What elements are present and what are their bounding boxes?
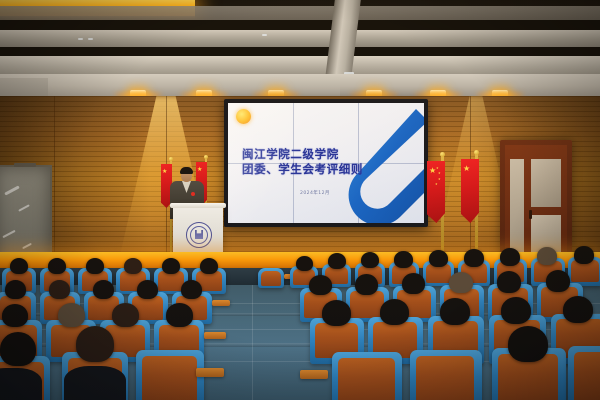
floor-joint — [252, 285, 253, 400]
auditorium-seat[interactable] — [136, 350, 204, 400]
auditorium-photo: 闽江学院二级学院 团委、学生会考评细则 2024年12月 ★ ★ ★ ★ ★ ★… — [0, 0, 600, 400]
audience-head — [497, 271, 521, 293]
audience-head — [328, 253, 346, 269]
screen-glare — [228, 103, 424, 223]
presenter-hair — [180, 167, 193, 174]
ceiling-beam-1 — [0, 6, 600, 20]
audience-head — [464, 249, 484, 267]
whiteboard-glare — [18, 204, 30, 211]
seat-writing-desk[interactable] — [196, 368, 224, 377]
flag-pole-finial — [204, 155, 208, 159]
audience-head — [537, 247, 557, 265]
audience-head — [137, 280, 158, 299]
audience-head — [563, 296, 593, 323]
audience-head — [112, 303, 139, 327]
whiteboard-glare — [22, 243, 32, 249]
chinese-flag: ★ ★ ★ ★ ★ — [427, 161, 445, 223]
audience-head — [361, 252, 379, 268]
flag-pole-finial — [169, 157, 173, 161]
flag-star-icon: ★ — [162, 168, 167, 176]
audience-head — [574, 246, 594, 264]
audience-head — [440, 298, 470, 325]
lectern-top — [170, 203, 226, 208]
audience-head — [309, 275, 332, 295]
audience-head — [322, 300, 351, 326]
audience-head — [380, 299, 409, 325]
audience-head — [355, 274, 378, 295]
audience-head — [181, 280, 202, 299]
door-glass-panel — [531, 159, 561, 207]
audience-head — [546, 270, 570, 292]
audience-head — [93, 280, 114, 299]
university-seal-icon — [186, 222, 212, 248]
ceiling-reflection-dot — [262, 34, 267, 36]
chinese-flag: ★ — [461, 159, 479, 223]
audience-head — [10, 258, 28, 274]
seal-monogram — [195, 230, 203, 239]
ceiling-reflection-dot — [88, 38, 93, 40]
ceiling-reflection-dot — [78, 38, 83, 40]
flag-star-icon: ★ — [463, 165, 470, 173]
seat-cushion — [261, 271, 281, 286]
audience-head — [394, 251, 413, 268]
auditorium-seat[interactable] — [258, 268, 284, 288]
auditorium-seat[interactable] — [332, 352, 402, 400]
whiteboard-tray — [14, 163, 36, 167]
led-video-wall[interactable]: 闽江学院二级学院 团委、学生会考评细则 2024年12月 — [228, 103, 424, 223]
seat-writing-desk[interactable] — [204, 332, 226, 339]
audience-head — [200, 258, 218, 274]
audience-shoulders — [64, 366, 126, 400]
audience-head — [162, 258, 180, 274]
audience-head — [86, 258, 104, 274]
auditorium-seat[interactable] — [568, 346, 600, 400]
seat-writing-desk[interactable] — [212, 300, 230, 306]
wall-seam — [54, 96, 55, 266]
audience-head — [58, 303, 85, 327]
ceiling-shadow-gap-2 — [0, 47, 600, 56]
audience-head — [48, 258, 66, 274]
audience-head — [5, 280, 26, 299]
audience-head — [0, 332, 36, 366]
audience-head — [500, 248, 520, 266]
auditorium-seat[interactable] — [410, 350, 482, 400]
audience-head — [2, 304, 28, 327]
audience-head — [402, 273, 425, 294]
door-handle[interactable] — [529, 210, 532, 219]
seat-cushion — [350, 291, 384, 318]
ceiling-panel-left — [0, 78, 48, 98]
audience-head — [76, 326, 114, 362]
seat-cushion — [574, 352, 600, 400]
seat-cushion — [338, 358, 395, 400]
flag-star-icon: ★ — [435, 180, 438, 188]
seat-cushion — [416, 356, 474, 400]
seat-writing-desk[interactable] — [300, 370, 328, 379]
audience-head — [449, 272, 473, 293]
flag-pole-finial — [440, 152, 445, 157]
audience-shoulders — [0, 368, 42, 400]
audience-head — [49, 280, 70, 299]
audience-head — [124, 258, 142, 274]
audience-head — [166, 303, 193, 327]
audience-head — [429, 250, 448, 267]
ceiling-shadow-gap-1 — [0, 20, 600, 30]
flag-star-icon: ★ — [438, 175, 441, 183]
flag-star-icon: ★ — [197, 166, 202, 174]
presenter-badge — [191, 192, 195, 196]
whiteboard-glare — [4, 185, 20, 195]
seat-cushion — [142, 356, 197, 400]
door-glass-panel — [510, 159, 524, 255]
audience-head — [508, 326, 548, 362]
whiteboard-glare — [2, 230, 15, 238]
audience-head — [296, 256, 313, 271]
audience-head — [501, 297, 531, 324]
flag-pole-finial — [474, 150, 479, 155]
